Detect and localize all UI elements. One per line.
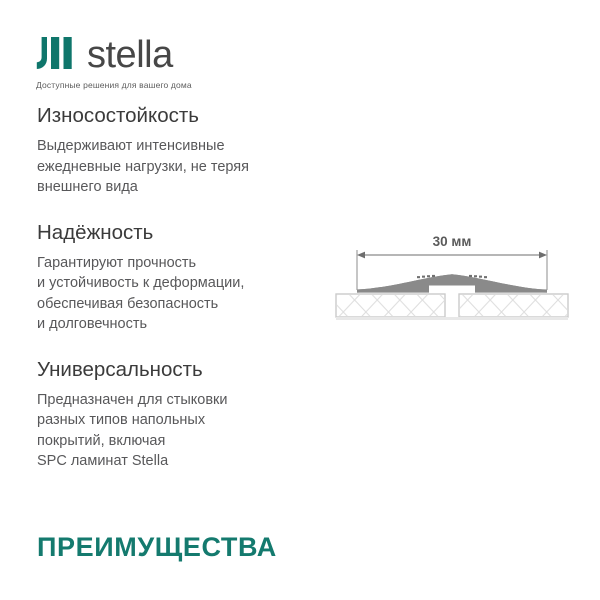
promo-slide: stella Доступные решения для вашего дома… — [0, 0, 600, 600]
dimension-arrow-line — [357, 252, 547, 259]
brand-tagline: Доступные решения для вашего дома — [36, 80, 192, 90]
stella-bars-icon — [36, 37, 77, 74]
dimension-label: 30 мм — [433, 234, 472, 249]
page-title: ПРЕИМУЩЕСТВА — [37, 530, 277, 564]
flooring-panel — [336, 294, 445, 317]
floor-transition-profile-cross-section: 30 мм — [332, 228, 572, 320]
feature-body: Выдерживают интенсивные ежедневные нагру… — [37, 136, 337, 198]
feature-body: Предназначен для стыковки разных типов н… — [37, 390, 337, 472]
subfloor-base — [336, 317, 568, 320]
logo-row: stella — [36, 36, 192, 74]
feature-item: Универсальность Предназначен для стыковк… — [37, 357, 337, 472]
feature-item: Износостойкость Выдерживают интенсивные … — [37, 103, 337, 198]
feature-title: Износостойкость — [37, 103, 337, 129]
feature-body: Гарантируют прочность и устойчивость к д… — [37, 253, 337, 335]
transition-profile-shape — [357, 274, 547, 292]
feature-list: Износостойкость Выдерживают интенсивные … — [37, 103, 337, 472]
brand-wordmark: stella — [87, 36, 173, 74]
brand-logo: stella Доступные решения для вашего дома — [36, 36, 192, 90]
feature-title: Надёжность — [37, 220, 337, 246]
feature-item: Надёжность Гарантируют прочность и устой… — [37, 220, 337, 335]
feature-title: Универсальность — [37, 357, 337, 383]
flooring-panel — [459, 294, 568, 317]
